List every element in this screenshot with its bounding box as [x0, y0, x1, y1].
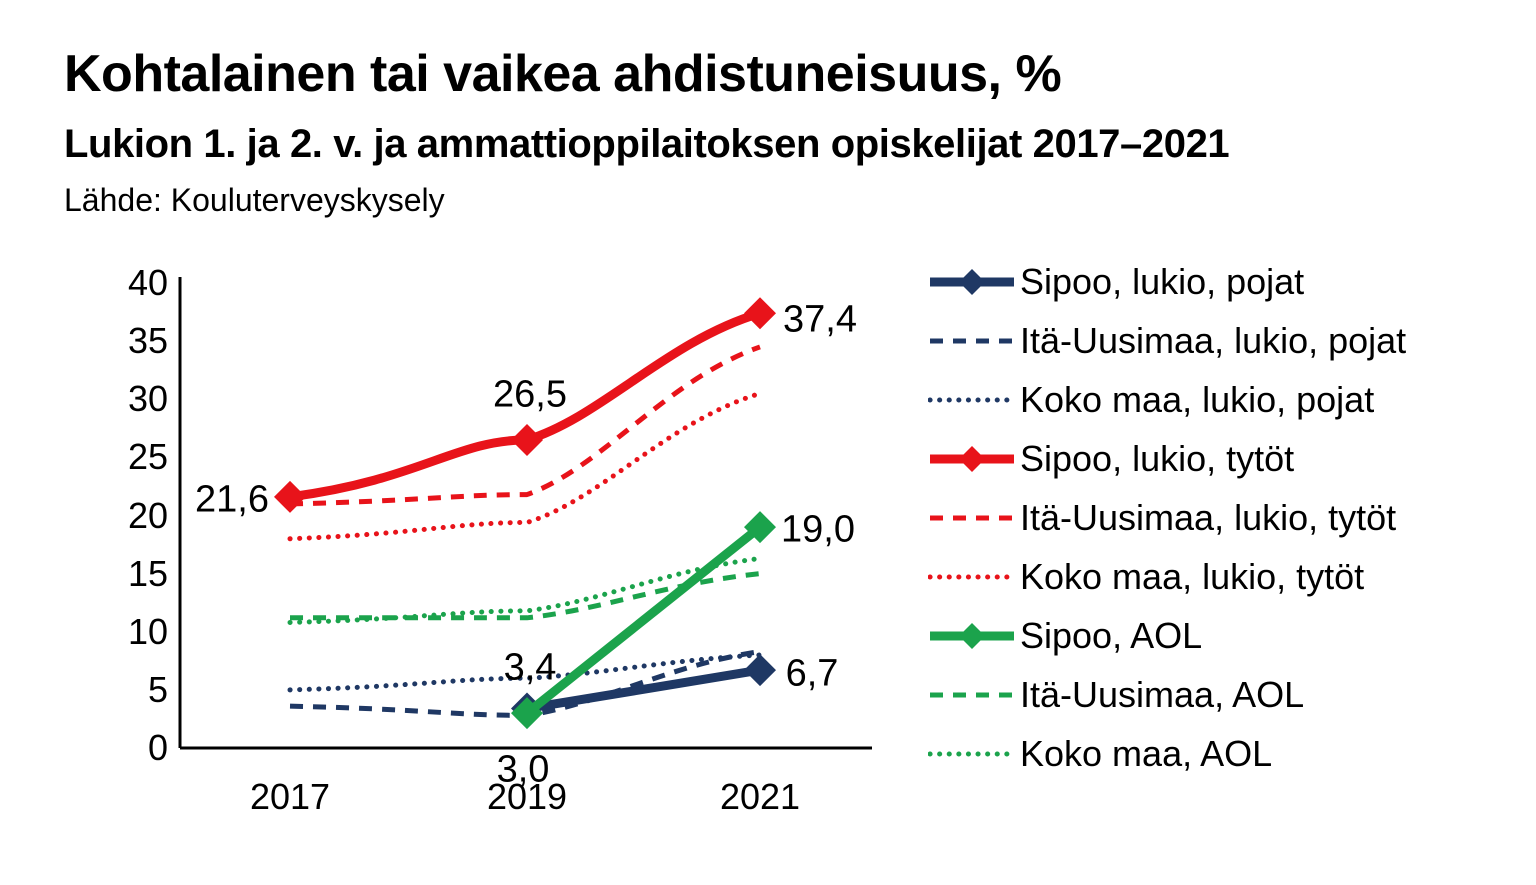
legend-swatch-icon: [928, 680, 1016, 710]
legend-item-label: Itä-Uusimaa, lukio, pojat: [1016, 323, 1406, 359]
y-tick-label: 0: [78, 727, 168, 769]
legend-swatch-icon: [928, 444, 1016, 474]
legend-swatch-icon: [928, 385, 1016, 415]
legend-swatch-icon: [928, 326, 1016, 356]
y-tick-label: 30: [78, 378, 168, 420]
data-label: 3,0: [497, 749, 550, 792]
legend-item-label: Sipoo, lukio, pojat: [1016, 264, 1304, 300]
series-marker-3-2: [744, 297, 776, 329]
legend-item-label: Sipoo, lukio, tytöt: [1016, 441, 1294, 477]
y-tick-label: 10: [78, 611, 168, 653]
data-label: 6,7: [786, 653, 839, 696]
y-tick-label: 25: [78, 436, 168, 478]
legend-item-label: Koko maa, lukio, pojat: [1016, 382, 1374, 418]
legend-item[interactable]: Itä-Uusimaa, lukio, tytöt: [928, 488, 1508, 547]
data-label: 3,4: [504, 647, 557, 690]
data-label: 37,4: [783, 299, 857, 342]
legend-item-label: Koko maa, lukio, tytöt: [1016, 559, 1364, 595]
legend-item[interactable]: Itä-Uusimaa, lukio, pojat: [928, 311, 1508, 370]
data-label: 26,5: [493, 374, 567, 417]
series-marker-3-0: [274, 481, 306, 513]
legend-item-label: Itä-Uusimaa, lukio, tytöt: [1016, 500, 1396, 536]
data-label: 21,6: [195, 479, 269, 522]
legend-swatch-icon: [928, 503, 1016, 533]
legend-item[interactable]: Sipoo, lukio, tytöt: [928, 429, 1508, 488]
y-tick-label: 20: [78, 495, 168, 537]
y-axis-tick-labels: 0510152025303540: [78, 0, 168, 880]
chart-legend: Sipoo, lukio, pojatItä-Uusimaa, lukio, p…: [928, 252, 1508, 783]
chart-page: Kohtalainen tai vaikea ahdistuneisuus, %…: [0, 0, 1536, 880]
x-tick-label: 2017: [250, 776, 330, 818]
series-line-8: [290, 559, 760, 623]
legend-item-label: Koko maa, AOL: [1016, 736, 1272, 772]
legend-swatch-icon: [928, 562, 1016, 592]
series-marker-0-1: [744, 654, 776, 686]
legend-item[interactable]: Koko maa, lukio, pojat: [928, 370, 1508, 429]
x-tick-label: 2021: [720, 776, 800, 818]
series-marker-3-1: [511, 424, 543, 456]
legend-swatch-icon: [928, 621, 1016, 651]
y-tick-label: 35: [78, 320, 168, 362]
legend-item[interactable]: Sipoo, lukio, pojat: [928, 252, 1508, 311]
legend-item-label: Itä-Uusimaa, AOL: [1016, 677, 1304, 713]
legend-item[interactable]: Koko maa, lukio, tytöt: [928, 547, 1508, 606]
legend-item[interactable]: Itä-Uusimaa, AOL: [928, 665, 1508, 724]
legend-item-label: Sipoo, AOL: [1016, 618, 1202, 654]
legend-swatch-icon: [928, 267, 1016, 297]
data-label: 19,0: [781, 509, 855, 552]
y-tick-label: 5: [78, 669, 168, 711]
legend-item[interactable]: Koko maa, AOL: [928, 724, 1508, 783]
y-tick-label: 15: [78, 553, 168, 595]
legend-swatch-icon: [928, 739, 1016, 769]
legend-item[interactable]: Sipoo, AOL: [928, 606, 1508, 665]
y-tick-label: 40: [78, 262, 168, 304]
